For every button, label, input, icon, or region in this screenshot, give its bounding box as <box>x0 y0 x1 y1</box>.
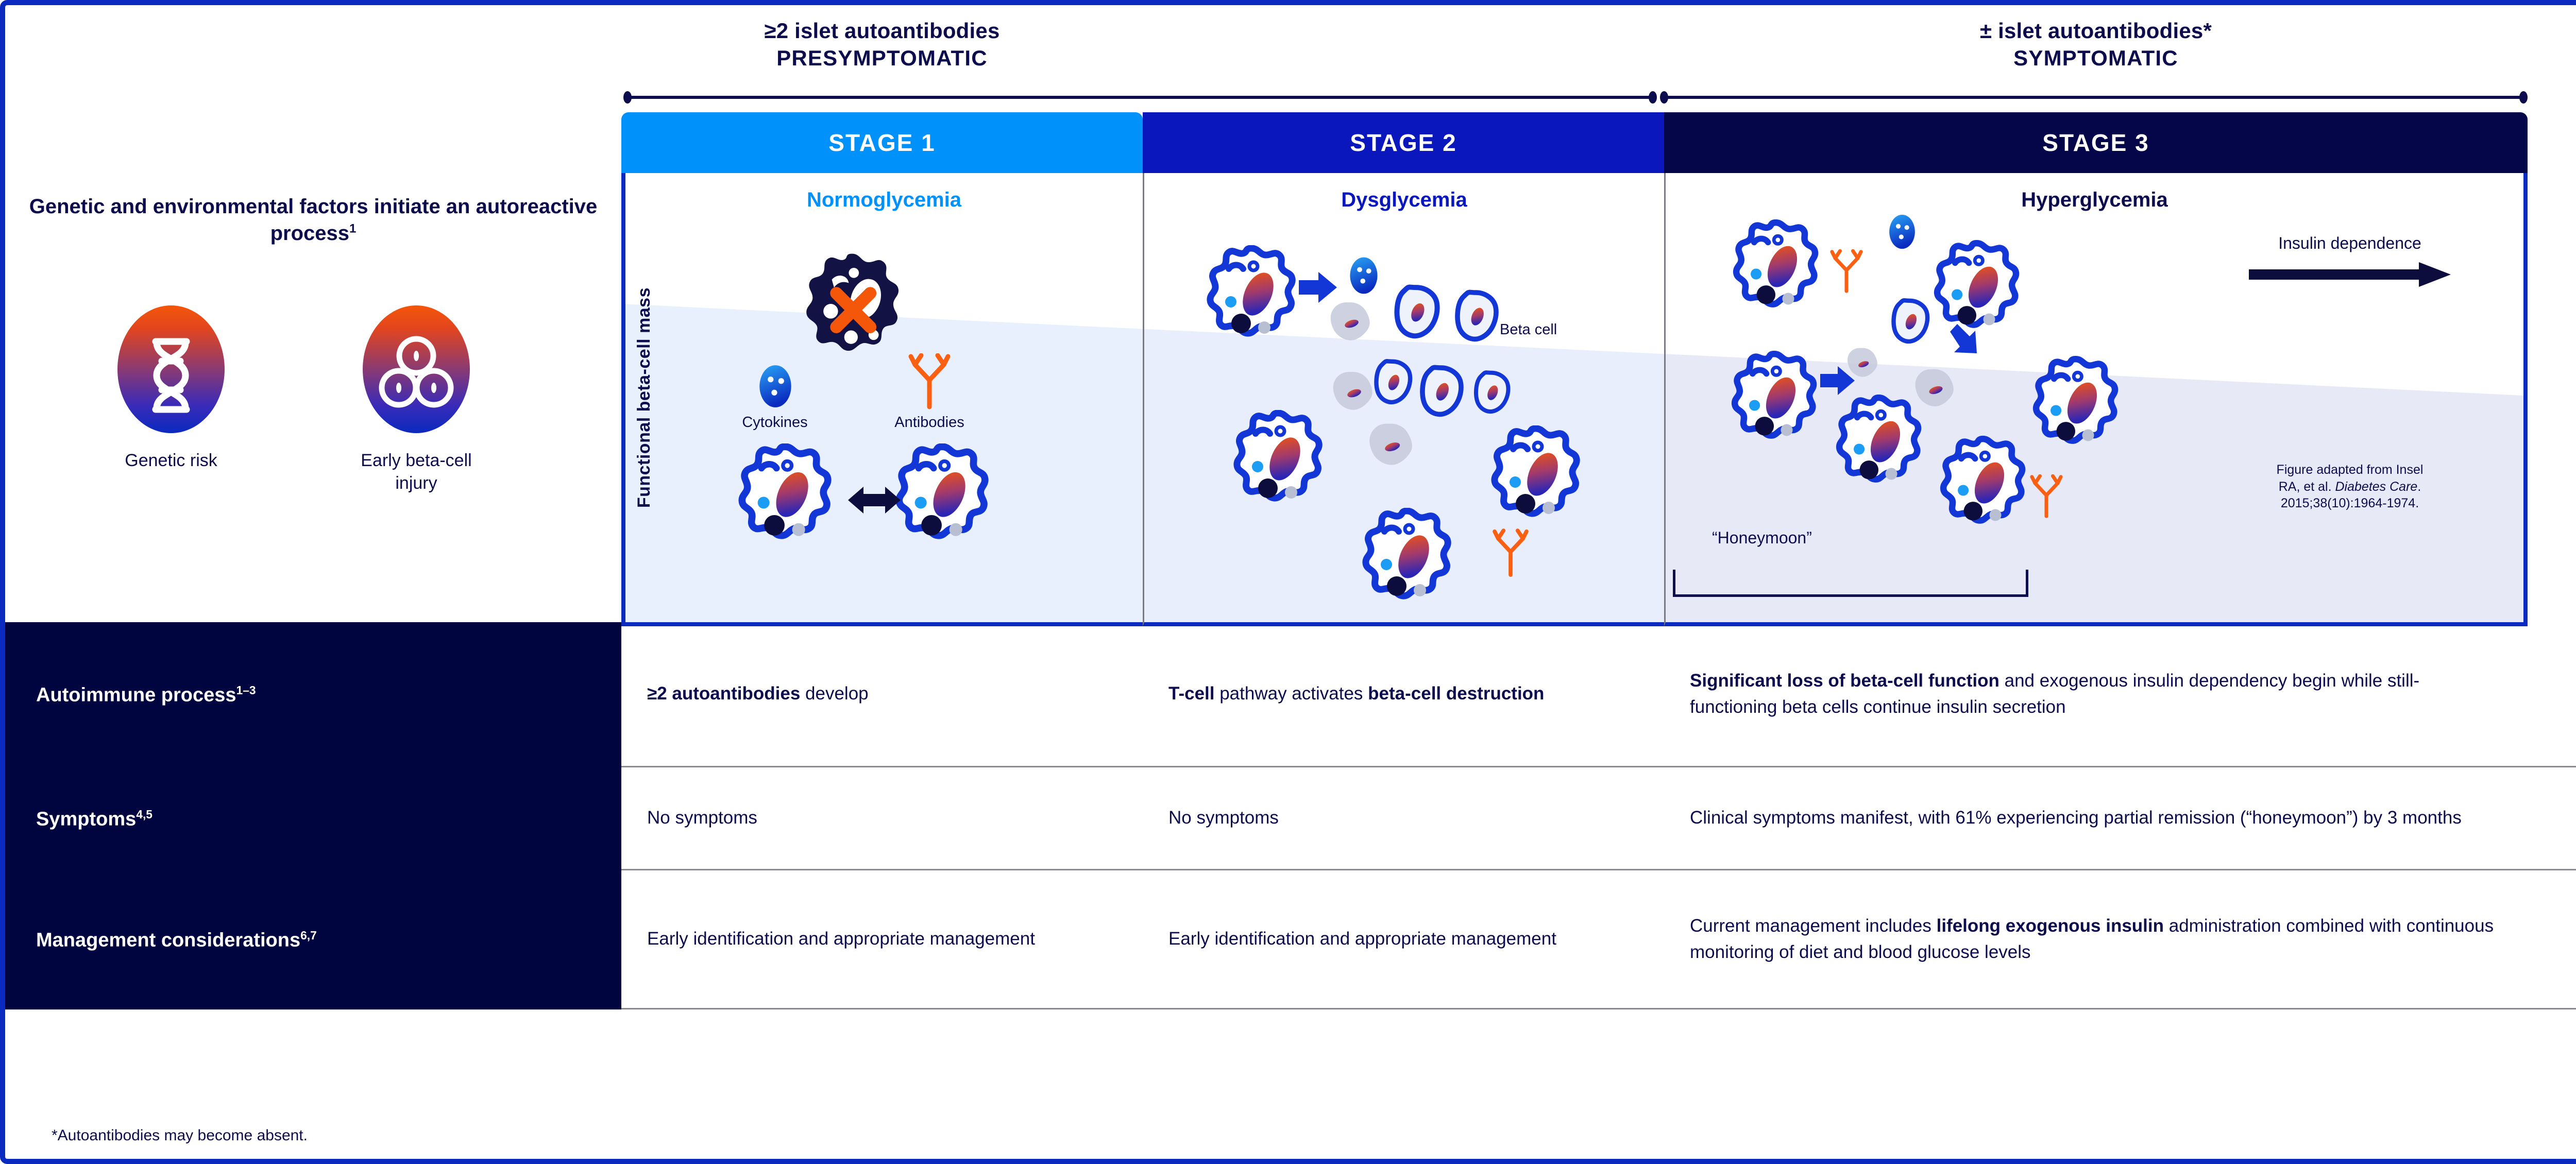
genetic-risk-label-wrap: Genetic risk <box>94 449 248 472</box>
stage-1-body: Functional beta-cell mass Normoglycemia … <box>621 173 1143 626</box>
dna-icon <box>117 305 225 433</box>
stages-grid: STAGE 1 Functional beta-cell mass Normog… <box>621 112 2528 622</box>
cell-rest: Clinical symptoms manifest, with 61% exp… <box>1690 805 2462 831</box>
symptomatic-line1: ± islet autoantibodies* <box>1664 18 2528 45</box>
cell-bold: ≥2 autoantibodies <box>647 683 800 704</box>
stage-2-illustration <box>1144 173 1664 618</box>
honeymoon-bracket <box>1673 570 2028 597</box>
intro-panel: Genetic and environmental factors initia… <box>5 5 621 622</box>
intro-title-text: Genetic and environmental factors initia… <box>29 195 598 245</box>
stage-1-header: STAGE 1 <box>621 112 1143 173</box>
intro-title-superscript: 1 <box>349 222 356 236</box>
cell-rest-pre: Current management includes <box>1690 916 1937 936</box>
symptomatic-line2: SYMPTOMATIC <box>1664 45 2528 72</box>
row-label-text: Symptoms <box>36 808 136 830</box>
row-cells: ≥2 autoantibodies develop T-cell pathway… <box>621 622 2576 767</box>
row-label-autoimmune-process: Autoimmune process1–3 <box>5 622 621 767</box>
early-beta-cell-injury-label: Early beta-cell injury <box>361 451 471 493</box>
figure-credit: Figure adapted from Insel RA, et al. Dia… <box>2242 461 2458 512</box>
presymptomatic-header: ≥2 islet autoantibodies PRESYMPTOMATIC <box>621 18 1143 72</box>
cell-rest: No symptoms <box>647 805 757 831</box>
cell-symptoms-stage1: No symptoms <box>621 767 1143 869</box>
stage-3-body: Hyperglycemia <box>1664 173 2528 626</box>
destruction-arrow-b <box>1950 324 1977 353</box>
cell-bold-2: beta-cell destruction <box>1368 683 1544 704</box>
early-beta-cell-injury-orb <box>363 305 470 433</box>
cell-rest: pathway activates <box>1214 683 1368 704</box>
table-row: Autoimmune process1–3 ≥2 autoantibodies … <box>5 622 2576 767</box>
row-label-superscript: 6,7 <box>300 929 317 942</box>
figure-credit-journal: Diabetes Care <box>2335 480 2418 494</box>
cell-rest: Early identification and appropriate man… <box>647 926 1035 952</box>
figure-credit-line2-b: . <box>2417 480 2421 494</box>
row-label-symptoms: Symptoms4,5 <box>5 767 621 870</box>
presymptomatic-line2: PRESYMPTOMATIC <box>621 45 1143 72</box>
cell-management-stage2: Early identification and appropriate man… <box>1143 870 1664 1008</box>
stage-2-header: STAGE 2 <box>1143 112 1664 173</box>
genetic-risk-label: Genetic risk <box>125 451 217 470</box>
figure-credit-line1: Figure adapted from Insel <box>2242 461 2458 478</box>
presymptomatic-line1: ≥2 islet autoantibodies <box>621 18 1143 45</box>
cell-rest: No symptoms <box>1168 805 1279 831</box>
honeymoon-caption: “Honeymoon” <box>1712 528 1812 547</box>
insulin-dependence-arrow <box>2247 260 2453 289</box>
comparison-table: Autoimmune process1–3 ≥2 autoantibodies … <box>5 622 2576 1009</box>
cell-management-stage3: Current management includes lifelong exo… <box>1664 870 2528 1008</box>
table-row: Symptoms4,5 No symptoms No symptoms Clin… <box>5 767 2576 870</box>
cell-symptoms-stage2: No symptoms <box>1143 767 1664 869</box>
infographic-root: ≥2 islet autoantibodies PRESYMPTOMATIC ±… <box>0 0 2576 1164</box>
cell-rest: Early identification and appropriate man… <box>1168 926 1556 952</box>
intro-title: Genetic and environmental factors initia… <box>26 193 601 247</box>
table-row: Management considerations6,7 Early ident… <box>5 870 2576 1009</box>
genetic-risk-orb <box>117 305 225 433</box>
row-label-superscript: 4,5 <box>136 808 152 821</box>
beta-cell-caption: Beta cell <box>1500 321 1613 338</box>
symptomatic-header: ± islet autoantibodies* SYMPTOMATIC <box>1664 18 2528 72</box>
figure-credit-line3: 2015;38(10):1964-1974. <box>2242 495 2458 512</box>
stage-1: STAGE 1 Functional beta-cell mass Normog… <box>621 112 1143 622</box>
row-label-management-considerations: Management considerations6,7 <box>5 870 621 1009</box>
cell-rest: develop <box>800 683 868 704</box>
stage-2: STAGE 2 Dysglycemia <box>1143 112 1664 622</box>
footnote: *Autoantibodies may become absent. <box>5 1112 2576 1159</box>
cell-bold: T-cell <box>1168 683 1214 704</box>
cell-bold: Significant loss of beta-cell function <box>1690 671 1999 691</box>
cell-bold: lifelong exogenous insulin <box>1937 916 2164 936</box>
row-label-text: Autoimmune process <box>36 684 236 706</box>
insulin-dependence-label: Insulin dependence <box>2236 234 2463 253</box>
figure-credit-line2-a: RA, et al. <box>2279 480 2335 494</box>
destruction-arrow-a <box>1820 366 1855 395</box>
stage-2-body: Dysglycemia <box>1143 173 1664 626</box>
footnote-text: *Autoantibodies may become absent. <box>52 1127 308 1144</box>
stage-1-illustration <box>625 173 1143 618</box>
antibodies-caption: Antibodies <box>873 414 986 431</box>
insulin-dependence-block: Insulin dependence <box>2236 234 2463 293</box>
stage-3: STAGE 3 Hyperglycemia <box>1664 112 2528 622</box>
cell-autoimmune-stage2: T-cell pathway activates beta-cell destr… <box>1143 622 1664 766</box>
cell-management-stage1: Early identification and appropriate man… <box>621 870 1143 1008</box>
early-beta-cell-injury-label-wrap: Early beta-cell injury <box>339 449 494 494</box>
destruction-arrow <box>1299 272 1337 303</box>
symptomatic-range-bar <box>1662 96 2526 99</box>
cell-symptoms-stage3: Clinical symptoms manifest, with 61% exp… <box>1664 767 2528 869</box>
row-label-superscript: 1–3 <box>236 683 256 697</box>
cells-icon <box>363 305 470 433</box>
reversible-arrow <box>848 487 901 513</box>
row-cells: Early identification and appropriate man… <box>621 870 2576 1009</box>
cell-autoimmune-stage1: ≥2 autoantibodies develop <box>621 622 1143 766</box>
row-label-text: Management considerations <box>36 929 300 951</box>
cell-autoimmune-stage3: Significant loss of beta-cell function a… <box>1664 622 2528 766</box>
figure-credit-line2: RA, et al. Diabetes Care. <box>2242 478 2458 495</box>
presymptomatic-range-bar <box>625 96 1655 99</box>
cytokines-caption: Cytokines <box>723 414 826 431</box>
stage-3-header: STAGE 3 <box>1664 112 2528 173</box>
row-cells: No symptoms No symptoms Clinical symptom… <box>621 767 2576 870</box>
